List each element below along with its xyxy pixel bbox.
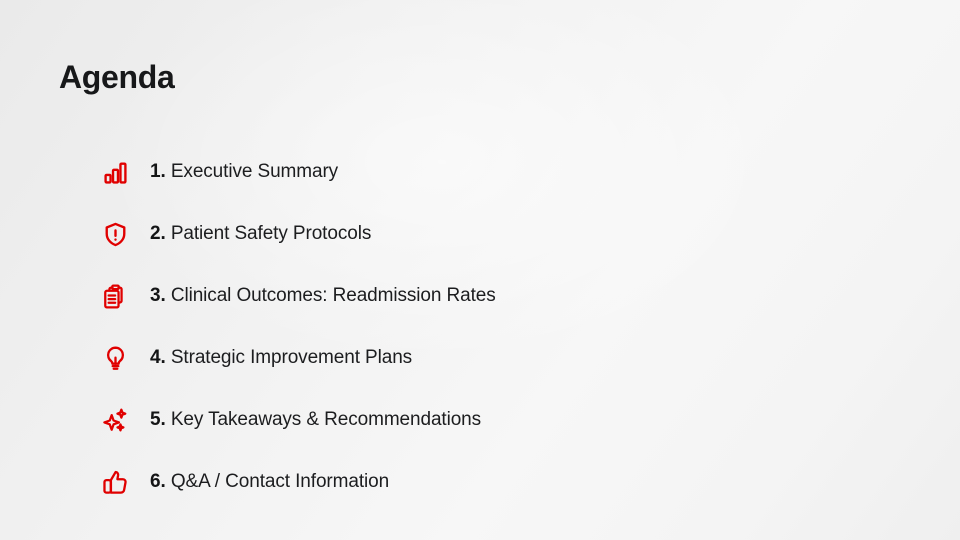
list-item[interactable]: 2. Patient Safety Protocols — [100, 203, 900, 265]
list-item-number: 2. — [150, 223, 166, 244]
list-item-number: 6. — [150, 471, 166, 492]
list-item-text: 5. Key Takeaways & Recommendations — [150, 408, 900, 432]
clipboard-list-icon — [100, 281, 130, 311]
list-item-label: Executive Summary — [171, 161, 338, 182]
list-item-text: 2. Patient Safety Protocols — [150, 222, 900, 246]
list-item[interactable]: 3. Clinical Outcomes: Readmission Rates — [100, 265, 900, 327]
list-item[interactable]: 5. Key Takeaways & Recommendations — [100, 389, 900, 451]
agenda-list: 1. Executive Summary 2. Patient Safety P… — [100, 141, 900, 513]
list-item[interactable]: 6. Q&A / Contact Information — [100, 451, 900, 513]
list-item-text: 6. Q&A / Contact Information — [150, 470, 900, 494]
list-item-number: 3. — [150, 285, 166, 306]
list-item-text: 1. Executive Summary — [150, 160, 900, 184]
thumbs-up-icon — [100, 467, 130, 497]
shield-alert-icon — [100, 219, 130, 249]
bar-chart-icon — [100, 157, 130, 187]
list-item-label: Patient Safety Protocols — [171, 223, 371, 244]
list-item-label: Strategic Improvement Plans — [171, 347, 412, 368]
lightbulb-icon — [100, 343, 130, 373]
list-item-label: Q&A / Contact Information — [171, 471, 389, 492]
list-item-number: 1. — [150, 161, 166, 182]
list-item-number: 5. — [150, 409, 166, 430]
page-title: Agenda — [59, 58, 175, 96]
list-item-number: 4. — [150, 347, 166, 368]
list-item-label: Key Takeaways & Recommendations — [171, 409, 481, 430]
agenda-slide: Agenda 1. Executive Summary — [0, 0, 960, 540]
list-item[interactable]: 1. Executive Summary — [100, 141, 900, 203]
sparkles-icon — [100, 405, 130, 435]
list-item-label: Clinical Outcomes: Readmission Rates — [171, 285, 496, 306]
list-item-text: 3. Clinical Outcomes: Readmission Rates — [150, 284, 900, 308]
list-item-text: 4. Strategic Improvement Plans — [150, 346, 900, 370]
list-item[interactable]: 4. Strategic Improvement Plans — [100, 327, 900, 389]
